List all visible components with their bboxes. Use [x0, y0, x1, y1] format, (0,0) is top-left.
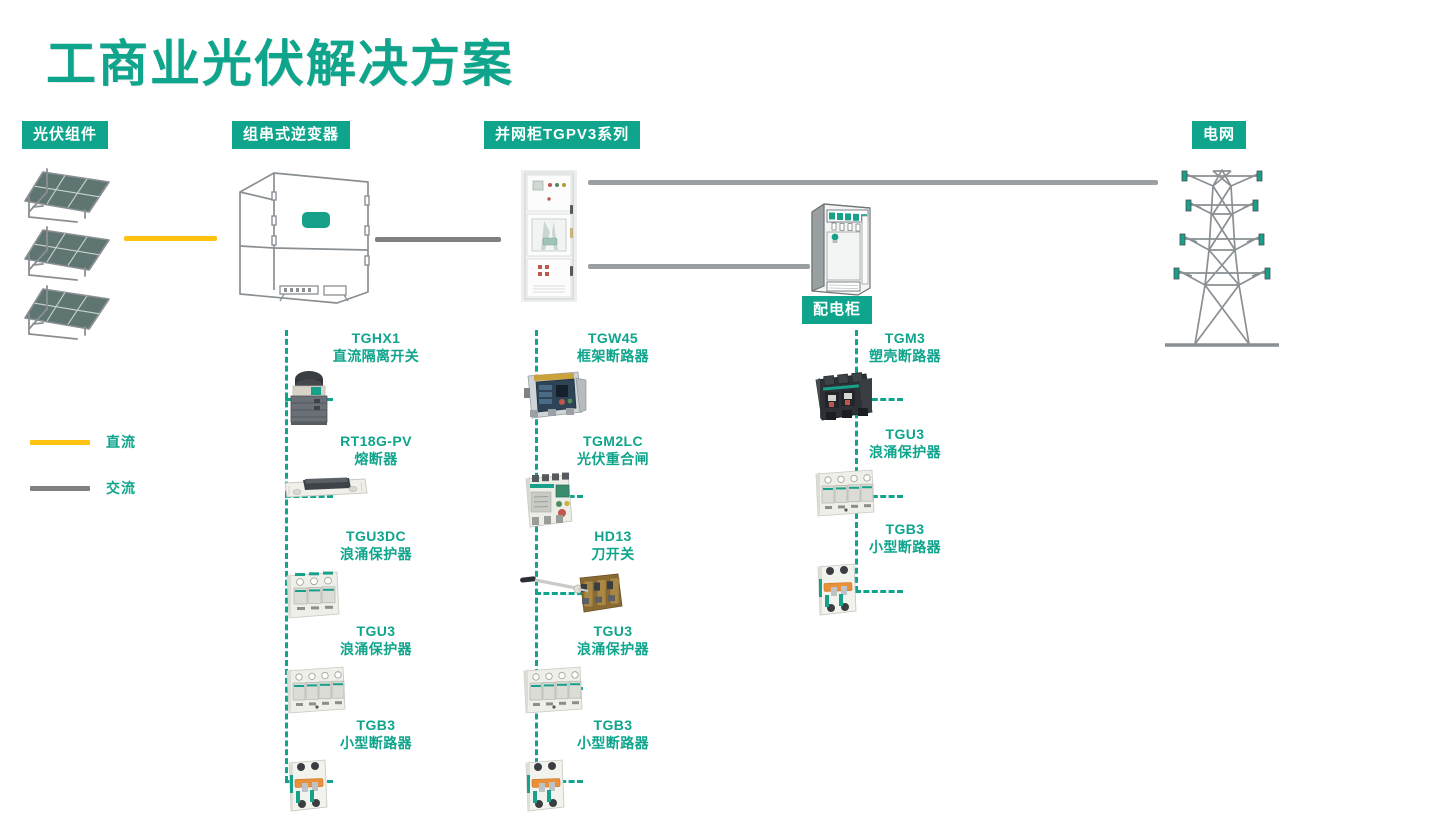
product-desc: 浪涌保护器 [518, 641, 708, 659]
product-item[interactable]: TGHX1 直流隔离开关 [281, 330, 471, 426]
product-desc: 小型断路器 [810, 539, 1000, 557]
product-desc: 熔断器 [281, 451, 471, 469]
product-image-acb [518, 368, 708, 420]
pv-panel-array-3 [23, 285, 115, 339]
product-desc: 浪涌保护器 [281, 546, 471, 564]
product-image-mcb-2p [281, 755, 471, 813]
stage-label-distribution-cabinet: 配电柜 [802, 296, 872, 324]
product-desc: 框架断路器 [518, 348, 708, 366]
product-code: TGB3 [810, 521, 1000, 539]
ac-flow-inverter-to-cabinet [375, 237, 501, 242]
product-desc: 刀开关 [518, 546, 708, 564]
product-item[interactable]: TGB3 小型断路器 [281, 717, 471, 813]
distribution-cabinet-graphic [810, 198, 872, 296]
product-image-mcb-2p [518, 755, 708, 813]
stage-label-grid-cabinet: 并网柜TGPV3系列 [484, 121, 640, 149]
page-title: 工商业光伏解决方案 [46, 24, 514, 96]
product-item[interactable]: TGU3 浪涌保护器 [810, 426, 1000, 518]
legend-swatch-dc [30, 440, 90, 445]
product-code: TGU3 [810, 426, 1000, 444]
product-code: TGB3 [281, 717, 471, 735]
product-image-mccb [810, 368, 1000, 424]
product-item[interactable]: HD13 刀开关 [518, 528, 708, 618]
product-desc: 浪涌保护器 [810, 444, 1000, 462]
product-item[interactable]: TGM2LC 光伏重合闸 [518, 433, 708, 529]
product-code: TGB3 [518, 717, 708, 735]
transmission-tower-graphic [1157, 164, 1287, 356]
product-desc: 光伏重合闸 [518, 451, 708, 469]
grid-cabinet-graphic [521, 170, 577, 302]
product-code: RT18G-PV [281, 433, 471, 451]
product-code: TGHX1 [281, 330, 471, 348]
ac-flow-cabinet-to-distribution [588, 264, 810, 269]
stage-label-string-inverter: 组串式逆变器 [232, 121, 350, 149]
pv-panel-array-1 [23, 168, 115, 222]
stage-label-pv-modules: 光伏组件 [22, 121, 108, 149]
product-image-spd-4p [518, 661, 708, 715]
pv-panel-array-2 [23, 226, 115, 280]
product-code: HD13 [518, 528, 708, 546]
product-image-rotary-isolator [281, 368, 471, 426]
legend-label-dc: 直流 [106, 432, 136, 452]
product-code: TGU3DC [281, 528, 471, 546]
product-code: TGU3 [518, 623, 708, 641]
product-desc: 直流隔离开关 [281, 348, 471, 366]
product-item[interactable]: RT18G-PV 熔断器 [281, 433, 471, 501]
product-item[interactable]: TGM3 塑壳断路器 [810, 330, 1000, 424]
product-item[interactable]: TGB3 小型断路器 [518, 717, 708, 813]
product-item[interactable]: TGW45 框架断路器 [518, 330, 708, 420]
product-item[interactable]: TGU3DC 浪涌保护器 [281, 528, 471, 620]
product-desc: 小型断路器 [518, 735, 708, 753]
product-image-fuse-holder [281, 471, 471, 501]
legend-item-ac: 交流 [30, 478, 136, 498]
product-code: TGU3 [281, 623, 471, 641]
product-desc: 塑壳断路器 [810, 348, 1000, 366]
dc-flow-line [124, 236, 217, 241]
product-code: TGW45 [518, 330, 708, 348]
legend-item-dc: 直流 [30, 432, 136, 452]
product-code: TGM2LC [518, 433, 708, 451]
legend-swatch-ac [30, 486, 90, 491]
product-desc: 小型断路器 [281, 735, 471, 753]
product-image-spd-3p [281, 566, 471, 620]
ac-flow-cabinet-to-grid [588, 180, 1158, 185]
product-desc: 浪涌保护器 [281, 641, 471, 659]
product-image-spd-4p [810, 464, 1000, 518]
product-item[interactable]: TGB3 小型断路器 [810, 521, 1000, 617]
product-item[interactable]: TGU3 浪涌保护器 [281, 623, 471, 715]
solution-diagram: 工商业光伏解决方案 光伏组件 组串式逆变器 并网柜TGPV3系列 配电柜 电网 … [0, 0, 1436, 829]
product-image-recloser [518, 471, 708, 529]
stage-label-power-grid: 电网 [1192, 121, 1246, 149]
legend-label-ac: 交流 [106, 478, 136, 498]
string-inverter-graphic [232, 170, 372, 305]
product-image-spd-4p [281, 661, 471, 715]
product-code: TGM3 [810, 330, 1000, 348]
product-image-mcb-2p [810, 559, 1000, 617]
product-item[interactable]: TGU3 浪涌保护器 [518, 623, 708, 715]
product-image-knife-switch [518, 566, 708, 618]
